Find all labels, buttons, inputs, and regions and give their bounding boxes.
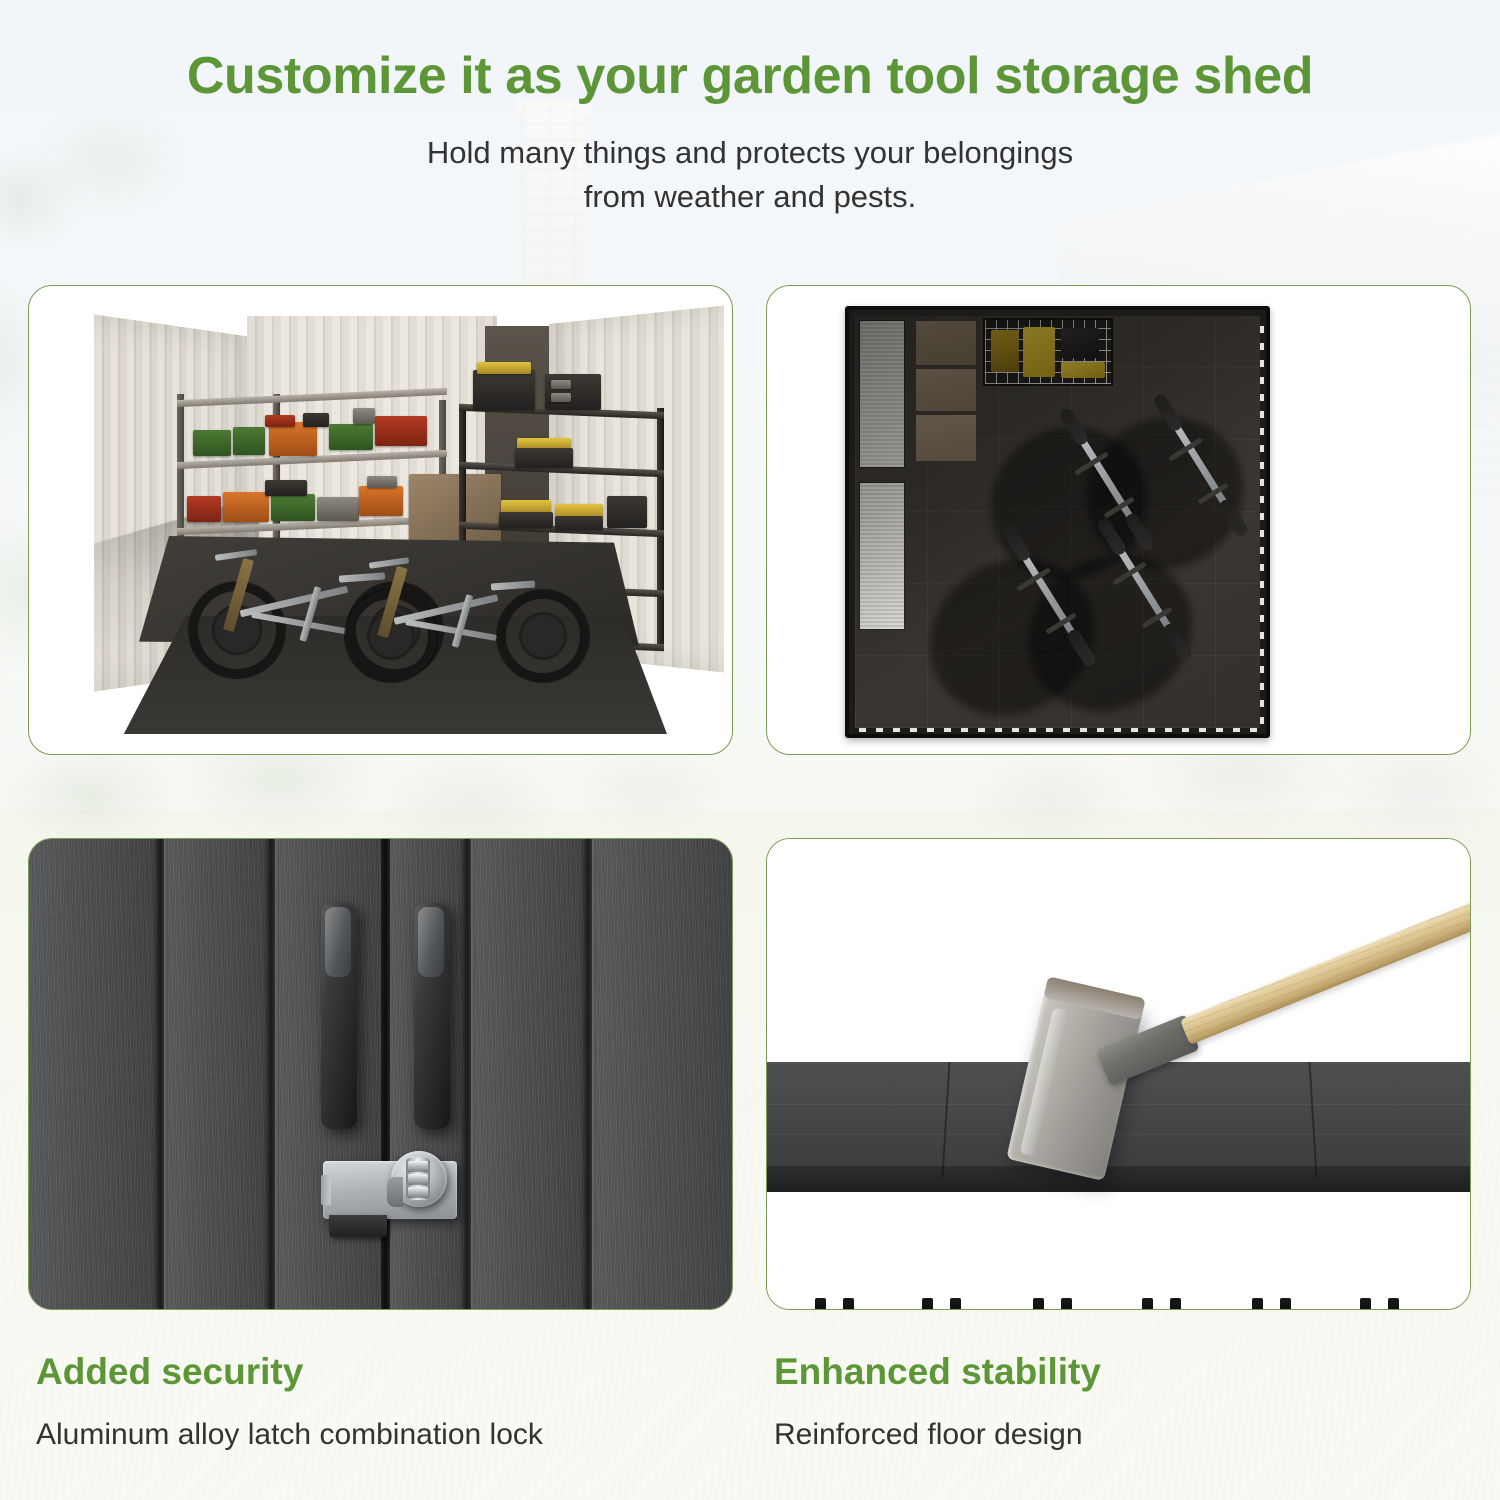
dial-wheel-2[interactable] [408,1174,428,1184]
perimeter-ticks-right [1260,320,1264,724]
page-title: Customize it as your garden tool storage… [0,48,1500,105]
header: Customize it as your garden tool storage… [0,0,1500,219]
floor-rib-4 [950,1298,961,1310]
door-center-seam [381,839,390,1309]
door-handle-left[interactable] [321,903,357,1129]
floor-rib-9 [1252,1298,1263,1310]
panel-shed-topdown [766,285,1471,755]
caption-right-title: Enhanced stability [774,1352,1474,1393]
shed-perimeter [845,306,1270,738]
door-groove-2 [268,839,275,1309]
dial-wheel-3[interactable] [408,1187,428,1197]
floor-rib-3 [922,1298,933,1310]
caption-left-title: Added security [36,1352,736,1393]
door-groove-1 [157,839,164,1309]
door-handle-right[interactable] [414,903,450,1129]
door-handle-left-grip [325,907,351,977]
subtitle-line-2: from weather and pests. [0,175,1500,219]
shed-topdown-plan [767,286,1470,754]
dial-wheel-1[interactable] [408,1161,428,1171]
door-groove-3 [464,839,471,1309]
floor-rib-8 [1170,1298,1181,1310]
panel-shed-interior [28,285,733,755]
latch-combination-lock[interactable] [323,1161,457,1219]
caption-left-subtitle: Aluminum alloy latch combination lock [36,1417,736,1453]
floor-rib-1 [815,1298,826,1310]
page-subtitle: Hold many things and protects your belon… [0,131,1500,219]
combination-dial[interactable] [391,1151,447,1207]
caption-right-subtitle: Reinforced floor design [774,1417,1474,1453]
subtitle-line-1: Hold many things and protects your belon… [0,131,1500,175]
door-slat-5 [475,839,585,1309]
perimeter-ticks-bottom [859,728,1259,732]
backdrop-white-bottom [767,1192,1470,1309]
floor-rib-7 [1142,1298,1153,1310]
floor-rib-11 [1360,1298,1371,1310]
combination-dial-face [406,1158,430,1200]
door-groove-4 [585,839,592,1309]
caption-added-security: Added security Aluminum alloy latch comb… [36,1352,736,1453]
door-handle-right-grip [418,907,444,977]
shed-interior-render [29,286,732,754]
lock-shackle [387,1177,403,1207]
latch-staple [329,1215,387,1237]
door-lock-closeup [29,839,732,1309]
panel-door-lock [28,838,733,1310]
floor-rib-6 [1061,1298,1072,1310]
floor-rib-2 [843,1298,854,1310]
panel-floor-strength [766,838,1471,1310]
latch-hinge-tab [321,1175,331,1205]
floor-panel-edge [767,1166,1470,1192]
door-slat-2 [168,839,268,1309]
caption-enhanced-stability: Enhanced stability Reinforced floor desi… [774,1352,1474,1453]
floor-rib-10 [1280,1298,1291,1310]
floor-strength-demo [767,839,1470,1309]
door-slat-6 [596,839,733,1309]
floor-rib-12 [1388,1298,1399,1310]
door-slat-1 [29,839,157,1309]
floor-rib-5 [1033,1298,1044,1310]
